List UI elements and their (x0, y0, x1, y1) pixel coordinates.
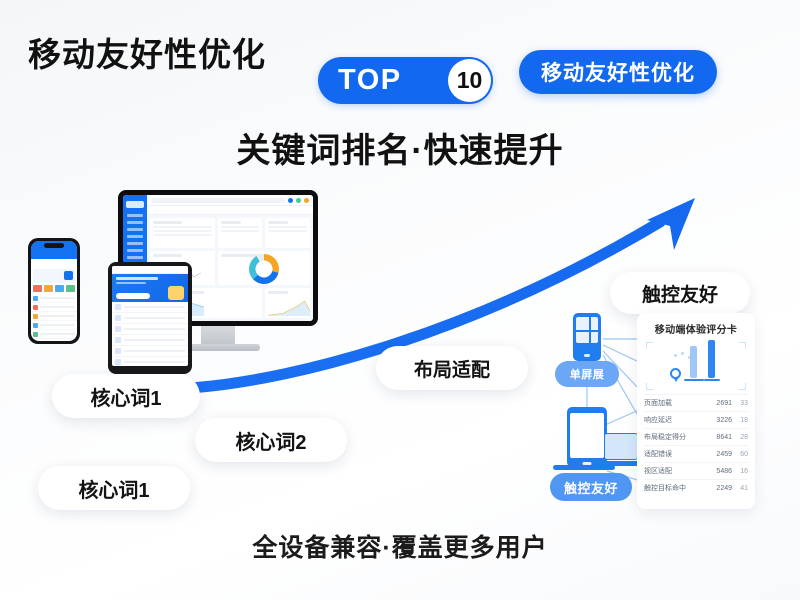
page-subtitle: 关键词排名·快速提升 (0, 123, 800, 172)
diagram-pill-single-screen: 单屏展 (555, 361, 619, 387)
device-mockup-group (28, 190, 328, 370)
table-row: 适配错误 2459 60 (644, 445, 748, 462)
row-value: 2459 (706, 451, 732, 458)
tablet-mockup (108, 262, 192, 383)
table-row: 触控目标命中 2249 41 (644, 479, 748, 496)
row-delta: 60 (732, 451, 748, 458)
row-value: 2249 (706, 485, 732, 492)
row-name: 适配错误 (644, 449, 706, 459)
monitor-stand-neck (201, 326, 235, 344)
phone-search-bar (34, 260, 74, 267)
mobile-scorecard: 移动端体验评分卡 页面加载 2691 33 响应延迟 3226 18 (637, 313, 755, 509)
keyword-pill-3[interactable]: 核心词1 (38, 466, 190, 510)
rank-number: 10 (448, 59, 491, 102)
small-phone-top-icon (573, 313, 601, 361)
row-name: 页面加载 (644, 398, 706, 408)
table-row: 响应延迟 3226 18 (644, 411, 748, 428)
scorecard-chart (646, 342, 746, 390)
table-row: 页面加载 2691 33 (644, 394, 748, 411)
phone-notch (44, 243, 64, 248)
dashboard-topbar (147, 195, 313, 206)
row-delta: 16 (732, 468, 748, 475)
row-name: 触控目标命中 (644, 483, 706, 493)
row-delta: 41 (732, 485, 748, 492)
scorecard-rows: 页面加载 2691 33 响应延迟 3226 18 布局稳定得分 8641 28… (644, 394, 748, 496)
peak-chart-icon (268, 299, 310, 316)
row-delta: 18 (732, 417, 748, 424)
small-laptop-icon (600, 433, 642, 466)
row-value: 5486 (706, 468, 732, 475)
row-name: 视区适配 (644, 466, 706, 476)
row-value: 8641 (706, 434, 732, 441)
row-name: 布局稳定得分 (644, 432, 706, 442)
keyword-pill-2[interactable]: 核心词2 (195, 418, 347, 462)
keyword-pill-1[interactable]: 核心词1 (52, 374, 200, 418)
table-row: 视区适配 5486 16 (644, 462, 748, 479)
top-rank-badge: TOP 10 (318, 57, 493, 104)
poster-canvas: 移动友好性优化 TOP 10 移动友好性优化 关键词排名·快速提升 (0, 0, 800, 600)
row-value: 3226 (706, 417, 732, 424)
top-label: TOP (338, 64, 402, 97)
row-delta: 28 (732, 434, 748, 441)
table-row: 布局稳定得分 8641 28 (644, 428, 748, 445)
page-title: 移动友好性优化 (28, 28, 266, 76)
header-tag-pill: 移动友好性优化 (519, 50, 717, 94)
footer-tagline: 全设备兼容·覆盖更多用户 (0, 528, 800, 564)
diagram-pill-touch-friendly: 触控友好 (550, 473, 632, 501)
row-name: 响应延迟 (644, 415, 706, 425)
phone-mockup (28, 238, 80, 344)
row-value: 2691 (706, 400, 732, 407)
scorecard-title: 移动端体验评分卡 (644, 321, 748, 336)
callout-pill-layout-fit[interactable]: 布局适配 (376, 346, 528, 390)
donut-chart-icon (249, 254, 279, 284)
tablet-banner (112, 274, 188, 302)
row-delta: 33 (732, 400, 748, 407)
device-base-bar (553, 465, 615, 470)
mobile-experience-diagram: 单屏展 触控友好 移动端体验评分卡 页面加载 2691 33 (545, 305, 760, 515)
